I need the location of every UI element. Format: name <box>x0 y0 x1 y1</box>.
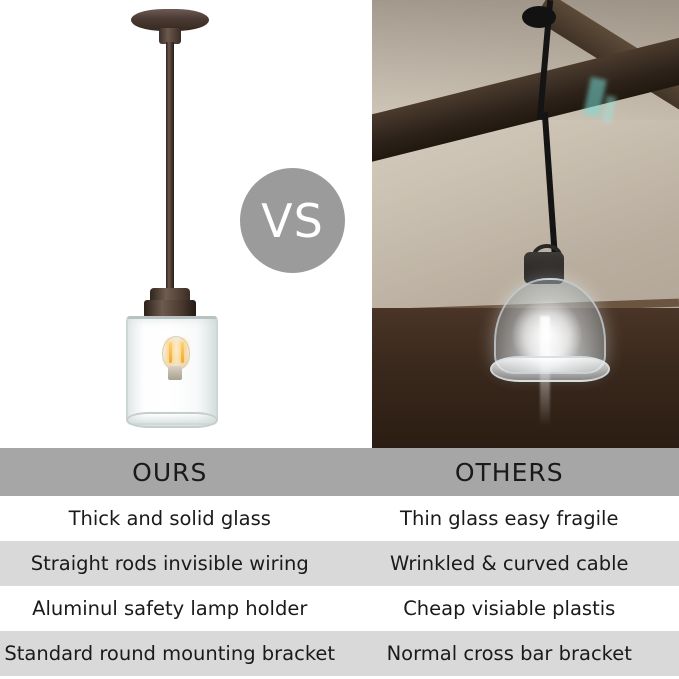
table-row: Standard round mounting bracket Normal c… <box>0 631 679 676</box>
table-row: Aluminul safety lamp holder Cheap visiab… <box>0 586 679 631</box>
glass-shade-rim <box>126 412 218 428</box>
vs-badge: VS <box>240 168 345 273</box>
cell-others-4: Normal cross bar bracket <box>340 631 679 676</box>
cell-others-3: Cheap visiable plastis <box>340 586 679 631</box>
comparison-images: VS <box>0 0 679 448</box>
bulb-base <box>168 366 182 380</box>
cell-ours-4: Standard round mounting bracket <box>0 631 340 676</box>
filament-bulb <box>162 336 190 370</box>
table-header-row: OURS OTHERS <box>0 448 679 496</box>
column-header-others: OTHERS <box>340 448 679 496</box>
bulb-filament-left <box>169 342 172 363</box>
cell-ours-3: Aluminul safety lamp holder <box>0 586 340 631</box>
table-row: Thick and solid glass Thin glass easy fr… <box>0 496 679 541</box>
dome-shade-rim <box>490 356 610 382</box>
others-product-image <box>372 0 679 448</box>
cell-ours-2: Straight rods invisible wiring <box>0 541 340 586</box>
straight-rod <box>166 42 174 292</box>
table-row: Straight rods invisible wiring Wrinkled … <box>0 541 679 586</box>
comparison-table: OURS OTHERS Thick and solid glass Thin g… <box>0 448 679 679</box>
comparison-infographic: VS OURS OTHERS Thick <box>0 0 679 679</box>
cell-ours-1: Thick and solid glass <box>0 496 340 541</box>
cell-others-2: Wrinkled & curved cable <box>340 541 679 586</box>
cable-knot <box>522 6 556 28</box>
cell-others-1: Thin glass easy fragile <box>340 496 679 541</box>
bulb-filament-right <box>181 342 184 363</box>
column-header-ours: OURS <box>0 448 340 496</box>
